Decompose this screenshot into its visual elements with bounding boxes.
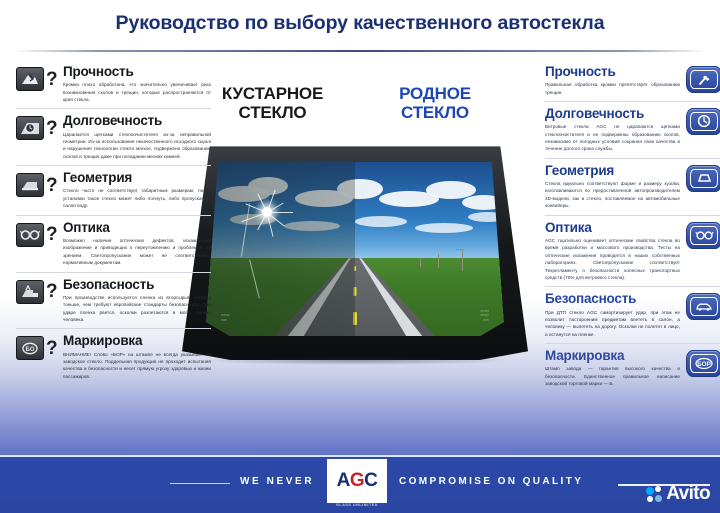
- question-mark-icon: ?: [46, 176, 58, 195]
- glasses-optics-icon: ?: [16, 222, 58, 248]
- right-heading-marking: Маркировка: [545, 348, 680, 363]
- left-section-optics: ? Оптика Возможно наличие оптических деф…: [16, 215, 211, 272]
- title-divider: [14, 50, 706, 52]
- left-heading-strength: Прочность: [63, 64, 211, 79]
- left-heading-durability: Долговечность: [63, 113, 211, 128]
- label-aftermarket-line1: КУСТАРНОЕ: [205, 85, 340, 104]
- glass-sticker-left: ▭▭▭▭▭: [221, 313, 230, 322]
- aftermarket-column: ? Прочность Кромка плохо обработана, что…: [16, 60, 211, 385]
- right-section-marking: Маркировка Штамп завода — гарантия высок…: [545, 343, 720, 392]
- bor-badge-icon: БОР: [686, 350, 720, 375]
- bor-stamp-icon: БО ?: [16, 335, 58, 361]
- windshield-glass: ▭▭▭▭▭ ▭▭▭▭▭▭▭▭: [206, 162, 504, 336]
- car-safety-icon: [686, 293, 720, 318]
- right-heading-geometry: Геометрия: [545, 163, 680, 178]
- agc-logo-tagline: GLASS UNLIMITED: [327, 503, 387, 507]
- agc-logo-text: AGC: [337, 470, 378, 492]
- windshield-shadow: [196, 356, 516, 365]
- glass-sticker-right: ▭▭▭▭▭▭▭▭: [480, 309, 489, 323]
- footer-top-rule: [0, 455, 720, 457]
- label-original-line1: РОДНОЕ: [375, 85, 495, 104]
- agc-letter-c: C: [364, 470, 377, 491]
- left-heading-safety: Безопасность: [63, 277, 211, 292]
- question-mark-icon: ?: [46, 225, 58, 244]
- right-heading-safety: Безопасность: [545, 291, 680, 306]
- right-body-safety: При ДТП стекло AGC самортизирует удар, п…: [545, 309, 680, 339]
- right-heading-strength: Прочность: [545, 64, 680, 79]
- label-original-glass: РОДНОЕ СТЕКЛО: [375, 85, 495, 122]
- right-heading-durability: Долговечность: [545, 106, 680, 121]
- frame-icon: [686, 165, 720, 190]
- glass-geometry-icon: ?: [16, 172, 58, 198]
- left-body-geometry: Стекло часто не соответствует габаритным…: [63, 187, 211, 209]
- left-section-safety: ? Безопасность При производстве использу…: [16, 272, 211, 329]
- label-original-line2: СТЕКЛО: [375, 104, 495, 123]
- right-section-geometry: Геометрия Стекла идеально соответствуют …: [545, 158, 720, 215]
- hammer-icon: [686, 66, 720, 91]
- right-body-durability: Ветровые стекла AGC не царапаются щеткам…: [545, 123, 680, 153]
- page-title: Руководство по выбору качественного авто…: [0, 12, 720, 35]
- left-body-optics: Возможно наличие оптических дефектов, ис…: [63, 237, 211, 267]
- right-section-optics: Оптика AGC тщательно оценивает оптически…: [545, 215, 720, 287]
- left-body-durability: Царапается щетками стеклоочистителя из-з…: [63, 131, 211, 161]
- right-body-strength: Правильная обработка кромки препятствует…: [545, 81, 680, 96]
- left-heading-marking: Маркировка: [63, 333, 211, 348]
- left-body-marking: ВНИМАНИЕ! Слово «БОР» на штампе не всегд…: [63, 351, 211, 381]
- question-mark-icon: ?: [46, 339, 58, 358]
- scratched-glass-clock-icon: ?: [16, 115, 58, 141]
- right-section-durability: Долговечность Ветровые стекла AGC не цар…: [545, 101, 720, 158]
- footer-slogan-left: WE NEVER: [240, 476, 314, 487]
- footer-left-rule: [170, 483, 230, 484]
- clock-icon: [686, 108, 720, 133]
- original-column: Прочность Правильная обработка кромки пр…: [545, 60, 720, 393]
- left-body-strength: Кромка плохо обработана, что значительно…: [63, 81, 211, 103]
- agc-letter-a: A: [337, 470, 350, 491]
- broken-safety-icon: ?: [16, 279, 58, 305]
- question-mark-icon: ?: [46, 282, 58, 301]
- left-section-marking: БО ? Маркировка ВНИМАНИЕ! Слово «БОР» на…: [16, 328, 211, 385]
- question-mark-icon: ?: [46, 119, 58, 138]
- infographic-poster: Руководство по выбору качественного авто…: [0, 0, 720, 513]
- label-aftermarket-line2: СТЕКЛО: [205, 104, 340, 123]
- left-section-strength: ? Прочность Кромка плохо обработана, что…: [16, 60, 211, 108]
- page-title-wrap: Руководство по выбору качественного авто…: [0, 12, 720, 35]
- right-body-optics: AGC тщательно оценивает оптические свойс…: [545, 237, 680, 282]
- avito-watermark-text: Avito: [666, 483, 710, 505]
- left-heading-geometry: Геометрия: [63, 170, 211, 185]
- question-mark-icon: ?: [46, 70, 58, 89]
- glasses-icon: [686, 222, 720, 247]
- windshield-illustration: ▭▭▭▭▭ ▭▭▭▭▭▭▭▭: [182, 142, 528, 360]
- right-section-strength: Прочность Правильная обработка кромки пр…: [545, 60, 720, 101]
- chipped-glass-icon: ?: [16, 66, 58, 92]
- avito-dots-icon: [646, 486, 663, 503]
- agc-letter-g: G: [350, 470, 364, 491]
- svg-text:БО: БО: [26, 347, 35, 353]
- avito-watermark: Avito: [646, 483, 710, 505]
- right-body-geometry: Стекла идеально соответствуют форме и ра…: [545, 180, 680, 210]
- footer-bar: WE NEVER AGC GLASS UNLIMITED COMPROMISE …: [0, 455, 720, 513]
- left-section-durability: ? Долговечность Царапается щетками стекл…: [16, 108, 211, 165]
- left-heading-optics: Оптика: [63, 220, 211, 235]
- left-body-safety: При производстве используется пленка из …: [63, 294, 211, 324]
- footer-slogan-right: COMPROMISE ON QUALITY: [399, 476, 583, 487]
- svg-text:БОР: БОР: [697, 361, 712, 368]
- agc-logo: AGC: [327, 459, 387, 503]
- right-body-marking: Штамп завода — гарантия высокого качеств…: [545, 365, 680, 387]
- right-heading-optics: Оптика: [545, 220, 680, 235]
- right-section-safety: Безопасность При ДТП стекло AGC самортиз…: [545, 286, 720, 343]
- label-aftermarket-glass: КУСТАРНОЕ СТЕКЛО: [205, 85, 340, 122]
- left-section-geometry: ? Геометрия Стекло часто не соответствуе…: [16, 165, 211, 214]
